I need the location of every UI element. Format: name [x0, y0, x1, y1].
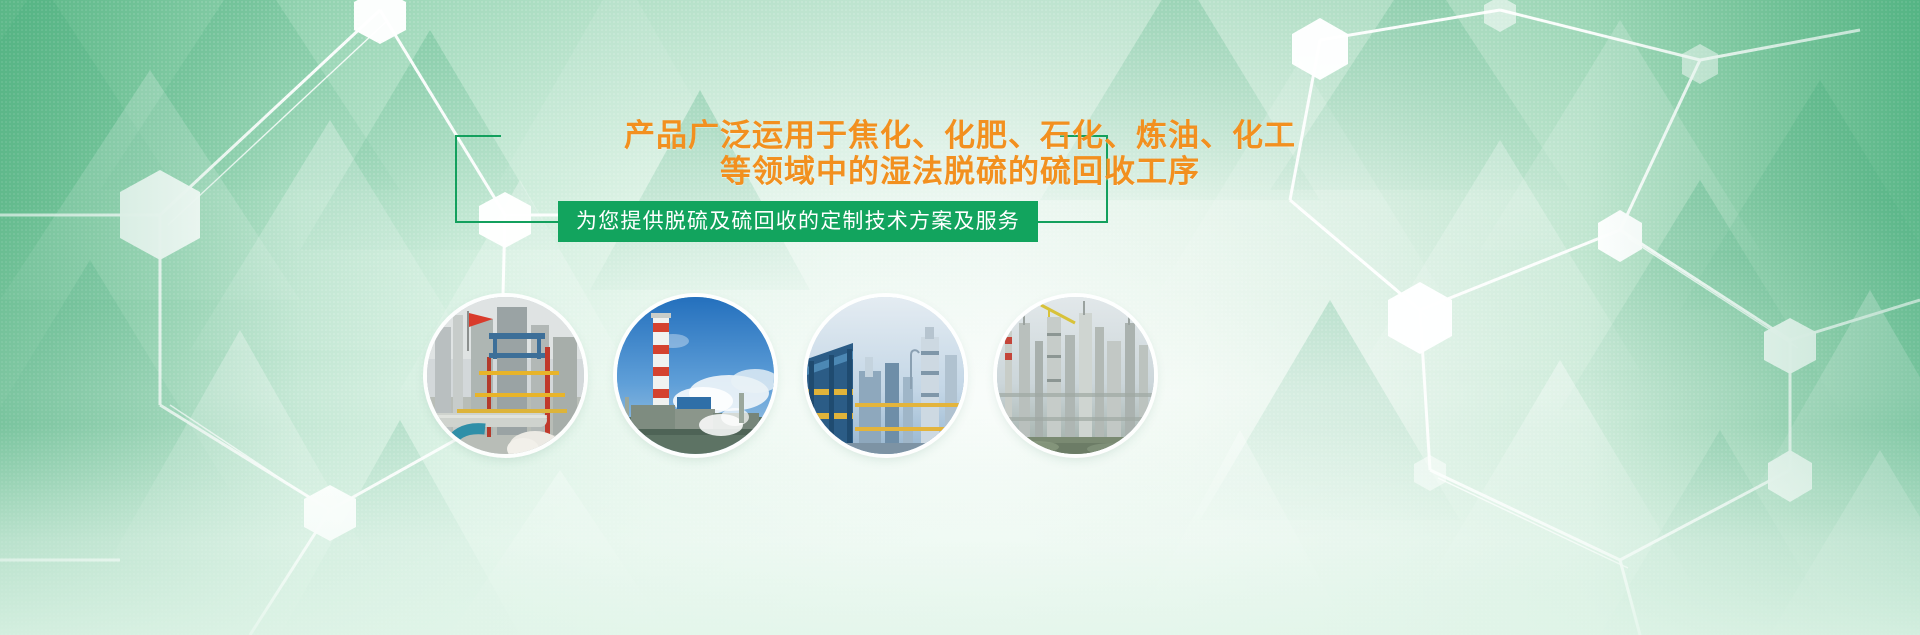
- distillation-towers-art: [997, 297, 1154, 454]
- photo-distillation-towers-image: [997, 297, 1154, 454]
- banner-content: 产品广泛运用于焦化、化肥、石化、炼油、化工 等领域中的湿法脱硫的硫回收工序 为您…: [0, 0, 1920, 635]
- photo-chimney-stack-image: [617, 297, 774, 454]
- chimney-stack-art: [617, 297, 774, 454]
- banner-root: 产品广泛运用于焦化、化肥、石化、炼油、化工 等领域中的湿法脱硫的硫回收工序 为您…: [0, 0, 1920, 635]
- photo-blue-refinery-image: [807, 297, 964, 454]
- photo-blue-refinery: [807, 297, 964, 454]
- pipework-plant-art: [427, 297, 584, 454]
- headline-line-1: 产品广泛运用于焦化、化肥、石化、炼油、化工: [0, 118, 1920, 154]
- photo-distillation-towers: [997, 297, 1154, 454]
- bracket-bottom-left-segment: [455, 221, 565, 223]
- headline: 产品广泛运用于焦化、化肥、石化、炼油、化工 等领域中的湿法脱硫的硫回收工序: [0, 118, 1920, 190]
- headline-line-2: 等领域中的湿法脱硫的硫回收工序: [0, 154, 1920, 190]
- blue-refinery-art: [807, 297, 964, 454]
- photo-pipework-plant: [427, 297, 584, 454]
- subtitle-bar: 为您提供脱硫及硫回收的定制技术方案及服务: [558, 201, 1038, 242]
- photo-chimney-stack: [617, 297, 774, 454]
- photo-pipework-plant-image: [427, 297, 584, 454]
